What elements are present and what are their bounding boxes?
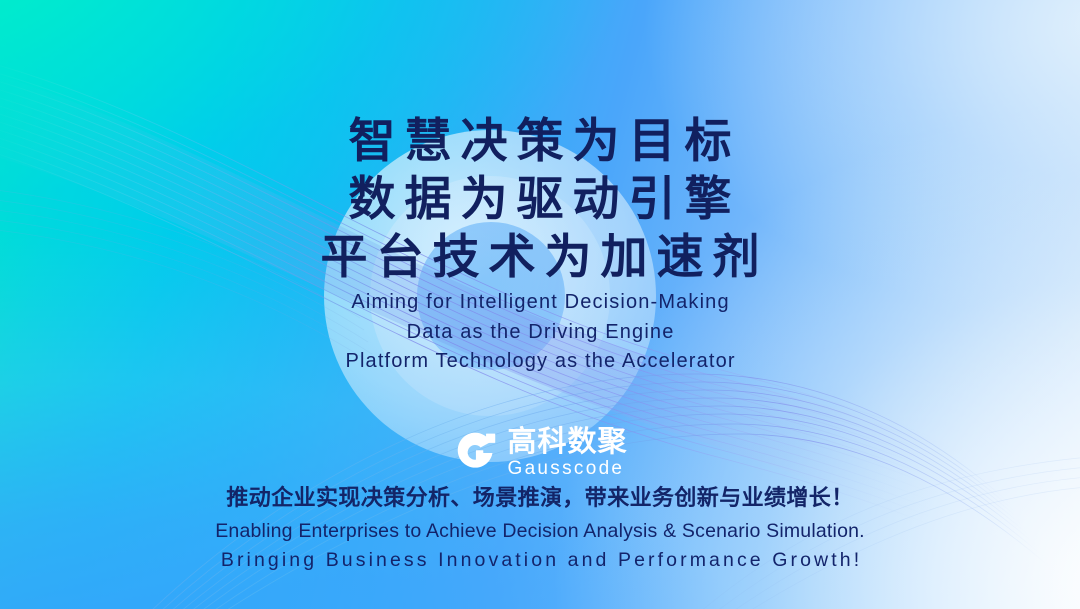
brand-logo: 高科数聚 Gausscode — [0, 427, 1080, 479]
tagline-cn: 推动企业实现决策分析、场景推演，带来业务创新与业绩增长！ — [0, 483, 1080, 513]
subheadline: Aiming for Intelligent Decision-Making D… — [0, 288, 1080, 377]
tagline-en-line-2: Bringing Business Innovation and Perform… — [0, 546, 1080, 575]
headline-line-1: 智慧决策为目标 — [0, 112, 1080, 170]
brand-name-en: Gausscode — [507, 458, 627, 479]
brand-logo-text: 高科数聚 Gausscode — [507, 427, 627, 479]
subheadline-line-1: Aiming for Intelligent Decision-Making — [0, 288, 1080, 318]
headline-line-3: 平台技术为加速剂 — [0, 228, 1080, 286]
tagline-en-line-1: Enabling Enterprises to Achieve Decision… — [0, 517, 1080, 546]
headline-line-2: 数据为驱动引擎 — [0, 170, 1080, 228]
gausscode-logo-mark-icon — [452, 430, 498, 476]
promo-banner: 智慧决策为目标 数据为驱动引擎 平台技术为加速剂 Aiming for Inte… — [0, 0, 1080, 609]
headline: 智慧决策为目标 数据为驱动引擎 平台技术为加速剂 — [0, 112, 1080, 286]
brand-name-cn: 高科数聚 — [507, 427, 627, 458]
subheadline-line-3: Platform Technology as the Accelerator — [0, 347, 1080, 377]
banner-content: 智慧决策为目标 数据为驱动引擎 平台技术为加速剂 Aiming for Inte… — [0, 0, 1080, 609]
subheadline-line-2: Data as the Driving Engine — [0, 318, 1080, 348]
tagline-block: 推动企业实现决策分析、场景推演，带来业务创新与业绩增长！ Enabling En… — [0, 483, 1080, 575]
